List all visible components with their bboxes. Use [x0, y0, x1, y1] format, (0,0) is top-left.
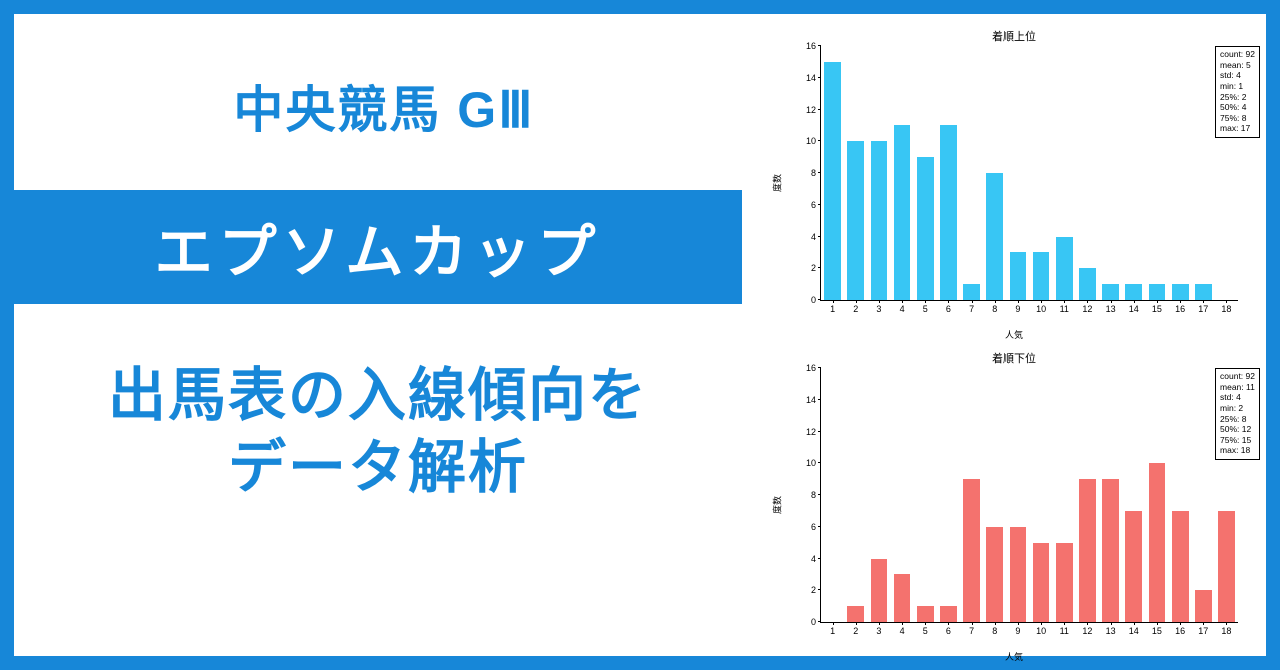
x-tick-mark [1157, 300, 1158, 303]
bar-cell [821, 368, 844, 622]
bar-cell [891, 368, 914, 622]
bar-cell [844, 368, 867, 622]
chart-title: 着順上位 [762, 28, 1266, 44]
bar-cell [1145, 368, 1168, 622]
y-tick-label: 0 [811, 295, 821, 305]
bar-cell [1192, 46, 1215, 300]
stats-box: count: 92 mean: 5 std: 4 min: 1 25%: 2 5… [1215, 46, 1260, 138]
bar [1172, 511, 1189, 622]
x-tick-mark [925, 622, 926, 625]
chart-bottom-finishers: 着順下位 度数 人気 02468101214161234567891011121… [762, 344, 1266, 665]
y-tick-label: 4 [811, 554, 821, 564]
bar [871, 559, 888, 623]
y-tick-mark [818, 431, 821, 432]
bar [1079, 268, 1096, 300]
bar-cell [960, 368, 983, 622]
bar [1102, 284, 1119, 300]
x-tick-mark [995, 300, 996, 303]
x-tick-mark [972, 300, 973, 303]
y-tick-label: 14 [806, 73, 821, 83]
charts-panel: 着順上位 度数 人気 02468101214161234567891011121… [762, 14, 1266, 656]
bar [917, 157, 934, 300]
bar [1102, 479, 1119, 622]
y-axis-label: 度数 [771, 173, 784, 191]
y-tick-label: 10 [806, 458, 821, 468]
y-tick-mark [818, 399, 821, 400]
x-tick-mark [1041, 622, 1042, 625]
bar-series [821, 368, 1238, 622]
race-category: 中央競馬 GⅢ [14, 70, 754, 142]
y-tick-label: 14 [806, 395, 821, 405]
y-tick-label: 6 [811, 522, 821, 532]
bar [1125, 284, 1142, 300]
bar [1149, 463, 1166, 622]
bar-cell [960, 46, 983, 300]
x-tick-mark [1203, 622, 1204, 625]
plot-area: 0246810121416123456789101112131415161718 [820, 46, 1238, 301]
x-tick-mark [1018, 300, 1019, 303]
bar-cell [1099, 368, 1122, 622]
bar-cell [1006, 46, 1029, 300]
subtitle: 出馬表の入線傾向を データ解析 [14, 360, 742, 504]
bar-cell [1145, 46, 1168, 300]
bar-cell [821, 46, 844, 300]
race-name: エプソムカップ [155, 205, 602, 289]
x-tick-mark [1018, 622, 1019, 625]
bar-cell [1169, 46, 1192, 300]
stat-std: std: 4 [1220, 392, 1255, 403]
bar-cell [983, 368, 1006, 622]
y-tick-mark [818, 494, 821, 495]
x-tick-mark [1226, 300, 1227, 303]
x-tick-mark [1087, 300, 1088, 303]
y-tick-mark [818, 367, 821, 368]
bar [1033, 543, 1050, 622]
y-tick-label: 8 [811, 168, 821, 178]
y-tick-label: 12 [806, 105, 821, 115]
x-tick-mark [856, 300, 857, 303]
y-tick-label: 12 [806, 427, 821, 437]
bar-cell [844, 46, 867, 300]
x-tick-mark [925, 300, 926, 303]
bar [986, 527, 1003, 622]
x-tick-mark [1111, 300, 1112, 303]
bar-cell [1053, 368, 1076, 622]
x-tick-mark [1134, 300, 1135, 303]
plot-area: 0246810121416123456789101112131415161718 [820, 368, 1238, 623]
stat-p25: 25%: 8 [1220, 414, 1255, 425]
x-axis-label: 人気 [762, 650, 1266, 663]
bar [1125, 511, 1142, 622]
chart-title: 着順下位 [762, 350, 1266, 366]
bar-cell [1030, 368, 1053, 622]
stat-p75: 75%: 8 [1220, 113, 1255, 124]
bar-cell [1006, 368, 1029, 622]
y-tick-label: 16 [806, 363, 821, 373]
y-axis-label: 度数 [771, 495, 784, 513]
y-tick-mark [818, 236, 821, 237]
y-tick-mark [818, 45, 821, 46]
x-tick-mark [879, 622, 880, 625]
bar-cell [867, 368, 890, 622]
x-tick-mark [1087, 622, 1088, 625]
y-tick-mark [818, 462, 821, 463]
bar-cell [1076, 46, 1099, 300]
bar [871, 141, 888, 300]
x-tick-mark [948, 300, 949, 303]
bar-cell [1169, 368, 1192, 622]
stat-p25: 25%: 2 [1220, 92, 1255, 103]
y-tick-mark [818, 140, 821, 141]
bar [1195, 590, 1212, 622]
x-tick-mark [833, 622, 834, 625]
stat-p75: 75%: 15 [1220, 435, 1255, 446]
bar-cell [983, 46, 1006, 300]
y-tick-mark [818, 77, 821, 78]
bar-cell [937, 368, 960, 622]
chart-top-finishers: 着順上位 度数 人気 02468101214161234567891011121… [762, 22, 1266, 343]
x-tick-mark [995, 622, 996, 625]
stat-std: std: 4 [1220, 70, 1255, 81]
bar-cell [1053, 46, 1076, 300]
bar [847, 141, 864, 300]
x-tick-mark [948, 622, 949, 625]
stat-min: min: 2 [1220, 403, 1255, 414]
x-tick-mark [1041, 300, 1042, 303]
y-tick-label: 2 [811, 585, 821, 595]
bar-cell [1099, 46, 1122, 300]
y-tick-mark [818, 526, 821, 527]
bar [1218, 511, 1235, 622]
bar [940, 606, 957, 622]
y-tick-mark [818, 109, 821, 110]
y-tick-mark [818, 204, 821, 205]
y-tick-mark [818, 299, 821, 300]
x-tick-mark [902, 300, 903, 303]
y-tick-label: 4 [811, 232, 821, 242]
x-axis-label: 人気 [762, 328, 1266, 341]
x-tick-mark [1180, 622, 1181, 625]
x-tick-mark [833, 300, 834, 303]
bar [917, 606, 934, 622]
stat-p50: 50%: 4 [1220, 102, 1255, 113]
race-name-band: エプソムカップ [14, 190, 742, 304]
y-tick-label: 6 [811, 200, 821, 210]
stat-max: max: 17 [1220, 123, 1255, 134]
bar [824, 62, 841, 300]
x-tick-mark [1064, 622, 1065, 625]
stat-count: count: 92 [1220, 49, 1255, 60]
bar-cell [937, 46, 960, 300]
bar [894, 574, 911, 622]
stat-count: count: 92 [1220, 371, 1255, 382]
subtitle-line-2: データ解析 [14, 432, 742, 504]
x-tick-mark [879, 300, 880, 303]
stat-p50: 50%: 12 [1220, 424, 1255, 435]
y-tick-mark [818, 267, 821, 268]
y-tick-label: 10 [806, 136, 821, 146]
poster-inner-card: 中央競馬 GⅢ エプソムカップ 出馬表の入線傾向を データ解析 着順上位 度数 … [14, 14, 1266, 656]
bar [1033, 252, 1050, 300]
bar [1079, 479, 1096, 622]
bar [1010, 527, 1027, 622]
stat-mean: mean: 11 [1220, 382, 1255, 393]
bar-cell [914, 46, 937, 300]
stat-min: min: 1 [1220, 81, 1255, 92]
bar-cell [1122, 368, 1145, 622]
bar [1172, 284, 1189, 300]
x-tick-mark [1157, 622, 1158, 625]
bar [894, 125, 911, 300]
bar [940, 125, 957, 300]
x-tick-mark [1180, 300, 1181, 303]
bar-cell [1122, 46, 1145, 300]
bar [963, 284, 980, 300]
x-tick-mark [972, 622, 973, 625]
y-tick-label: 8 [811, 490, 821, 500]
y-tick-mark [818, 172, 821, 173]
x-tick-mark [902, 622, 903, 625]
bar-series [821, 46, 1238, 300]
x-tick-mark [1064, 300, 1065, 303]
y-tick-mark [818, 558, 821, 559]
bar [986, 173, 1003, 300]
bar-cell [1076, 368, 1099, 622]
bar [1195, 284, 1212, 300]
bar [847, 606, 864, 622]
poster-root: 中央競馬 GⅢ エプソムカップ 出馬表の入線傾向を データ解析 着順上位 度数 … [0, 0, 1280, 670]
y-tick-label: 0 [811, 617, 821, 627]
bar-cell [1030, 46, 1053, 300]
bar-cell [891, 46, 914, 300]
bar [1056, 543, 1073, 622]
stats-box: count: 92 mean: 11 std: 4 min: 2 25%: 8 … [1215, 368, 1260, 460]
x-tick-mark [856, 622, 857, 625]
bar [1010, 252, 1027, 300]
x-tick-mark [1226, 622, 1227, 625]
x-tick-mark [1111, 622, 1112, 625]
y-tick-label: 16 [806, 41, 821, 51]
bar [1056, 237, 1073, 301]
y-tick-mark [818, 589, 821, 590]
y-tick-label: 2 [811, 263, 821, 273]
x-tick-mark [1203, 300, 1204, 303]
subtitle-line-1: 出馬表の入線傾向を [14, 360, 742, 432]
bar-cell [867, 46, 890, 300]
bar-cell [914, 368, 937, 622]
bar [963, 479, 980, 622]
y-tick-mark [818, 621, 821, 622]
x-tick-mark [1134, 622, 1135, 625]
stat-max: max: 18 [1220, 445, 1255, 456]
bar-cell [1192, 368, 1215, 622]
title-panel: 中央競馬 GⅢ エプソムカップ 出馬表の入線傾向を データ解析 [14, 14, 754, 656]
stat-mean: mean: 5 [1220, 60, 1255, 71]
bar [1149, 284, 1166, 300]
